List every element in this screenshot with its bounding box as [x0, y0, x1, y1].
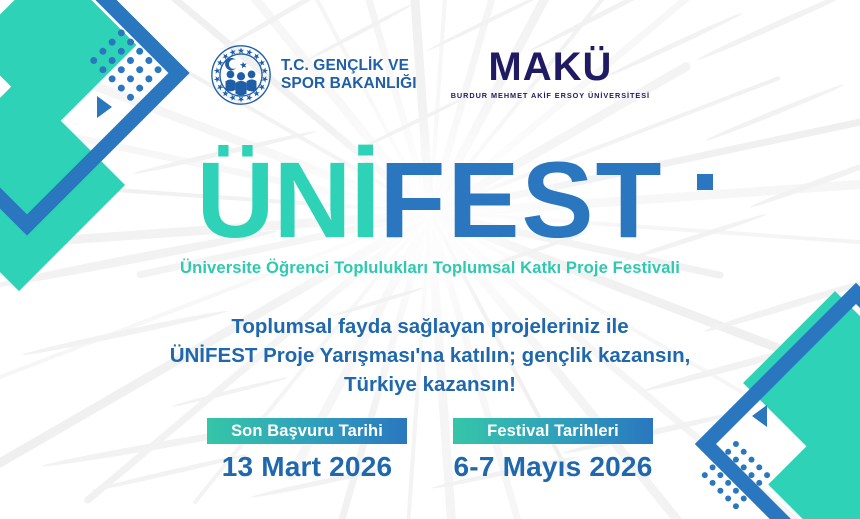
maku-wordmark: MAKÜ — [488, 48, 612, 86]
ministry-line-2: SPOR BAKANLIĞI — [281, 75, 417, 93]
ministry-logo: T.C. GENÇLİK VE SPOR BAKANLIĞI — [210, 44, 417, 106]
unifest-poster: T.C. GENÇLİK VE SPOR BAKANLIĞI MAKÜ BURD… — [0, 0, 860, 519]
festival-subtitle: Üniversite Öğrenci Toplulukları Toplumsa… — [0, 258, 860, 278]
body-line-1: Toplumsal fayda sağlayan projeleriniz il… — [0, 312, 860, 341]
university-logo: MAKÜ BURDUR MEHMET AKİF ERSOY ÜNİVERSİTE… — [451, 48, 650, 100]
festival-dates-value: 6-7 Mayıs 2026 — [453, 451, 653, 483]
title-part-uni: ÜNİ — [196, 139, 379, 260]
maku-subtitle: BURDUR MEHMET AKİF ERSOY ÜNİVERSİTESİ — [451, 91, 650, 100]
festival-dates-badge: Festival Tarihleri — [453, 418, 653, 444]
body-line-3: Türkiye kazansın! — [0, 370, 860, 399]
dates-row: Son Başvuru Tarihi 13 Mart 2026 Festival… — [0, 418, 860, 483]
title-block: ÜNİFEST Üniversite Öğrenci Toplulukları … — [0, 146, 860, 278]
body-line-2: ÜNİFEST Proje Yarışması'na katılın; genç… — [0, 341, 860, 370]
application-deadline-block: Son Başvuru Tarihi 13 Mart 2026 — [207, 418, 407, 483]
title-part-fest: FEST — [379, 139, 663, 260]
application-deadline-badge: Son Başvuru Tarihi — [207, 418, 407, 444]
festival-dates-block: Festival Tarihleri 6-7 Mayıs 2026 — [453, 418, 653, 483]
ministry-line-1: T.C. GENÇLİK VE — [281, 57, 417, 75]
application-deadline-value: 13 Mart 2026 — [207, 451, 407, 483]
body-text: Toplumsal fayda sağlayan projeleriniz il… — [0, 312, 860, 399]
logo-row: T.C. GENÇLİK VE SPOR BAKANLIĞI MAKÜ BURD… — [0, 44, 860, 106]
ministry-logo-text: T.C. GENÇLİK VE SPOR BAKANLIĞI — [281, 57, 417, 94]
festival-title: ÜNİFEST — [0, 146, 860, 254]
tc-genclik-spor-bakanligi-seal-icon — [210, 44, 272, 106]
